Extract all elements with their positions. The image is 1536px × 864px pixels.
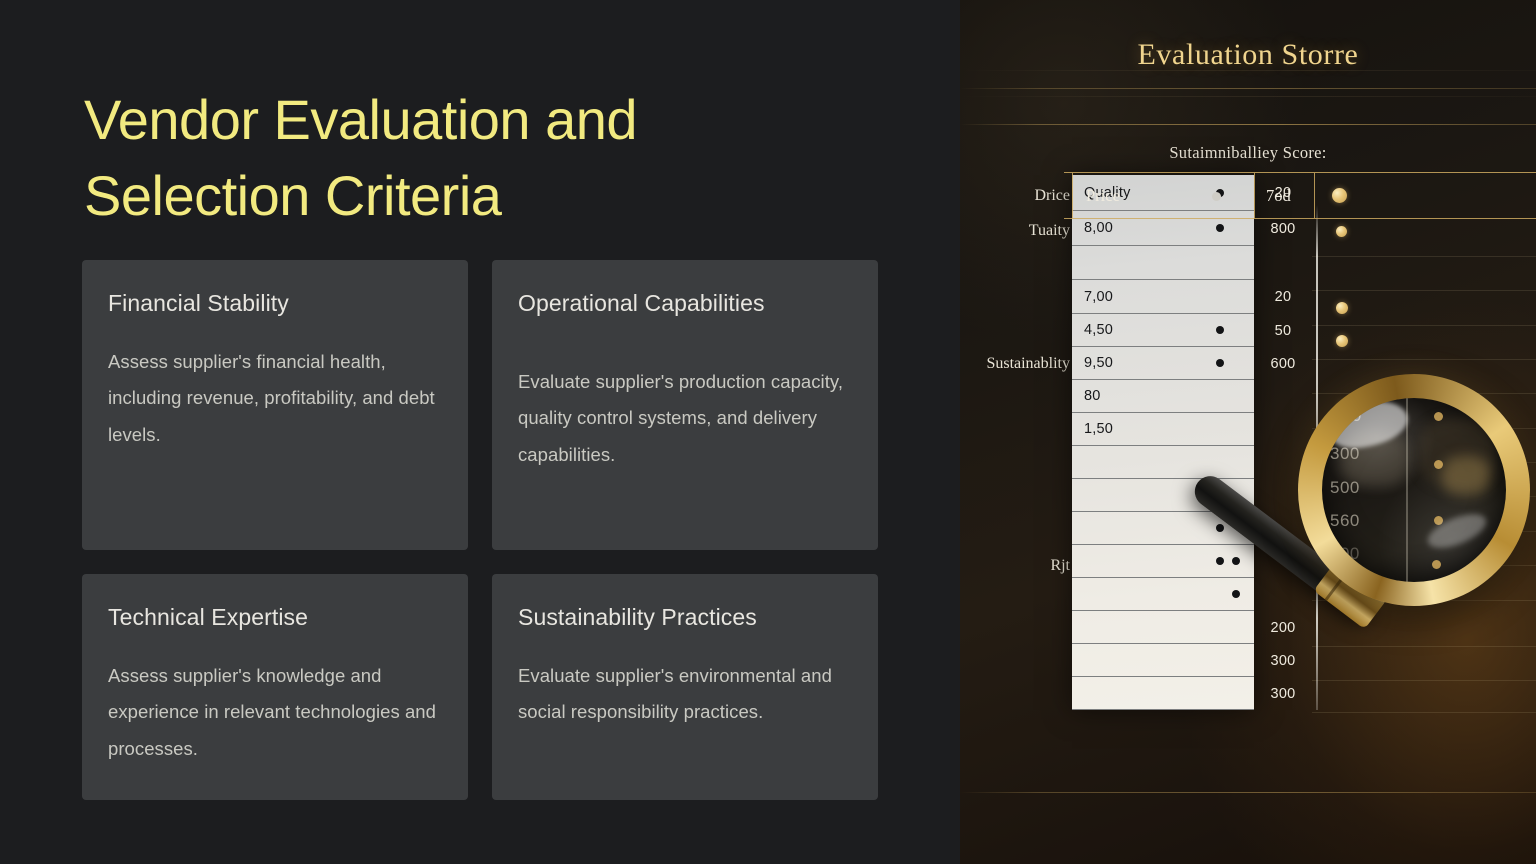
score-label: Sutaimniballiey Score: (960, 143, 1536, 163)
content-pane: Vendor Evaluation and Selection Criteria… (0, 0, 960, 864)
table-header-row: Price 7od (1064, 172, 1536, 219)
lens-number: 300 (1330, 544, 1360, 564)
gold-dot-icon (1336, 226, 1347, 237)
card-body: Assess supplier's knowledge and experien… (108, 658, 442, 768)
table-row: 9,50 (1072, 347, 1254, 380)
grain-line (960, 96, 1536, 97)
magnifier-rim (1298, 374, 1530, 606)
gold-dot-icon (1336, 335, 1348, 347)
gold-dot-icon (1338, 537, 1347, 546)
numeric-cell (1254, 512, 1312, 545)
table-row (1072, 246, 1254, 280)
numeric-cell: 20 (1254, 280, 1312, 314)
numeric-cell (1254, 446, 1312, 479)
row-dot-icon (1216, 224, 1224, 232)
cell-value: 4,50 (1084, 322, 1113, 338)
numeric-cell: 600 (1254, 347, 1312, 380)
document-title: Evaluation Storre (960, 38, 1536, 72)
card-body: Evaluate supplier's production capacity,… (518, 364, 852, 474)
lens-vertical-rule (1406, 398, 1408, 582)
gold-rule (960, 88, 1536, 89)
evaluation-score-photo: Evaluation Storre Sutaimniballiey Score:… (960, 0, 1536, 864)
header-value: 7od (1266, 186, 1291, 206)
row-label-rjt: Rjt (966, 557, 1070, 575)
row-dot-icon (1216, 326, 1224, 334)
header-gold-dot-icon (1332, 188, 1347, 203)
table-row: 1,50 (1072, 413, 1254, 446)
row-dot-icon (1216, 557, 1224, 565)
numeric-cell: 200 (1254, 611, 1312, 644)
row-dot-icon (1216, 359, 1224, 367)
header-label: Price (1086, 186, 1120, 206)
card-body: Evaluate supplier's environmental and so… (518, 658, 852, 731)
numeric-cell (1254, 246, 1312, 280)
header-dot-icon (1212, 192, 1221, 201)
card-title: Technical Expertise (108, 604, 442, 632)
gold-rule (960, 124, 1536, 125)
gold-dot-icon (1338, 598, 1347, 607)
slide-root: Vendor Evaluation and Selection Criteria… (0, 0, 1536, 864)
table-row: 4,50 (1072, 314, 1254, 347)
card-sustainability-practices[interactable]: Sustainability Practices Evaluate suppli… (492, 574, 878, 800)
magnifier-rim-inner (1309, 385, 1519, 595)
row-dot-icon (1232, 590, 1240, 598)
numeric-cell (1254, 545, 1312, 578)
card-title: Sustainability Practices (518, 604, 852, 632)
numeric-cell: 300 (1254, 677, 1312, 710)
paper-table: Quality 8,00 7,00 4,50 9,50 80 1,50 (1072, 175, 1254, 710)
numeric-column: 20 800 20 50 600 200 300 300 (1254, 175, 1312, 710)
row-label-drice: Drice (966, 187, 1070, 205)
table-row (1072, 578, 1254, 611)
numeric-cell (1254, 380, 1312, 413)
card-operational-capabilities[interactable]: Operational Capabilities Evaluate suppli… (492, 260, 878, 550)
cell-value: 9,50 (1084, 355, 1113, 371)
lens-number: 500 (1332, 406, 1362, 426)
row-label-sustainablity: Sustainablity (966, 355, 1070, 373)
card-body: Assess supplier's financial health, incl… (108, 344, 442, 454)
card-title: Financial Stability (108, 290, 442, 318)
gold-dot-icon (1336, 302, 1348, 314)
row-dot-icon (1232, 557, 1240, 565)
vertical-rule (1316, 205, 1318, 710)
lens-number: 560 (1330, 511, 1360, 531)
table-row (1072, 479, 1254, 512)
table-row (1072, 644, 1254, 677)
page-title: Vendor Evaluation and Selection Criteria (84, 82, 744, 234)
numeric-cell: 50 (1254, 314, 1312, 347)
numeric-cell (1254, 578, 1312, 611)
row-label-tuaity: Tuaity (966, 222, 1070, 240)
numeric-cell (1254, 479, 1312, 512)
cell-value: 1,50 (1084, 421, 1113, 437)
cell-value: 80 (1084, 388, 1101, 404)
numeric-cell (1254, 413, 1312, 446)
numeric-cell: 300 (1254, 644, 1312, 677)
card-technical-expertise[interactable]: Technical Expertise Assess supplier's kn… (82, 574, 468, 800)
card-financial-stability[interactable]: Financial Stability Assess supplier's fi… (82, 260, 468, 550)
lens-number: 500 (1330, 478, 1360, 498)
table-row (1072, 611, 1254, 644)
magnifier-lens: 500 300 500 560 300 (1322, 398, 1506, 582)
table-row (1072, 545, 1254, 578)
table-row (1072, 677, 1254, 710)
criteria-card-grid: Financial Stability Assess supplier's fi… (82, 260, 878, 800)
card-title: Operational Capabilities (518, 290, 852, 318)
lens-number: 300 (1330, 444, 1360, 464)
gold-rule (960, 792, 1536, 793)
cell-value: 7,00 (1084, 289, 1113, 305)
gold-dot-icon (1338, 401, 1347, 410)
table-row: 80 (1072, 380, 1254, 413)
table-row: 7,00 (1072, 280, 1254, 314)
cell-value: 8,00 (1084, 220, 1113, 236)
table-row (1072, 512, 1254, 545)
row-dot-icon (1216, 524, 1224, 532)
magnifier-ferrule (1313, 560, 1387, 629)
table-row (1072, 446, 1254, 479)
